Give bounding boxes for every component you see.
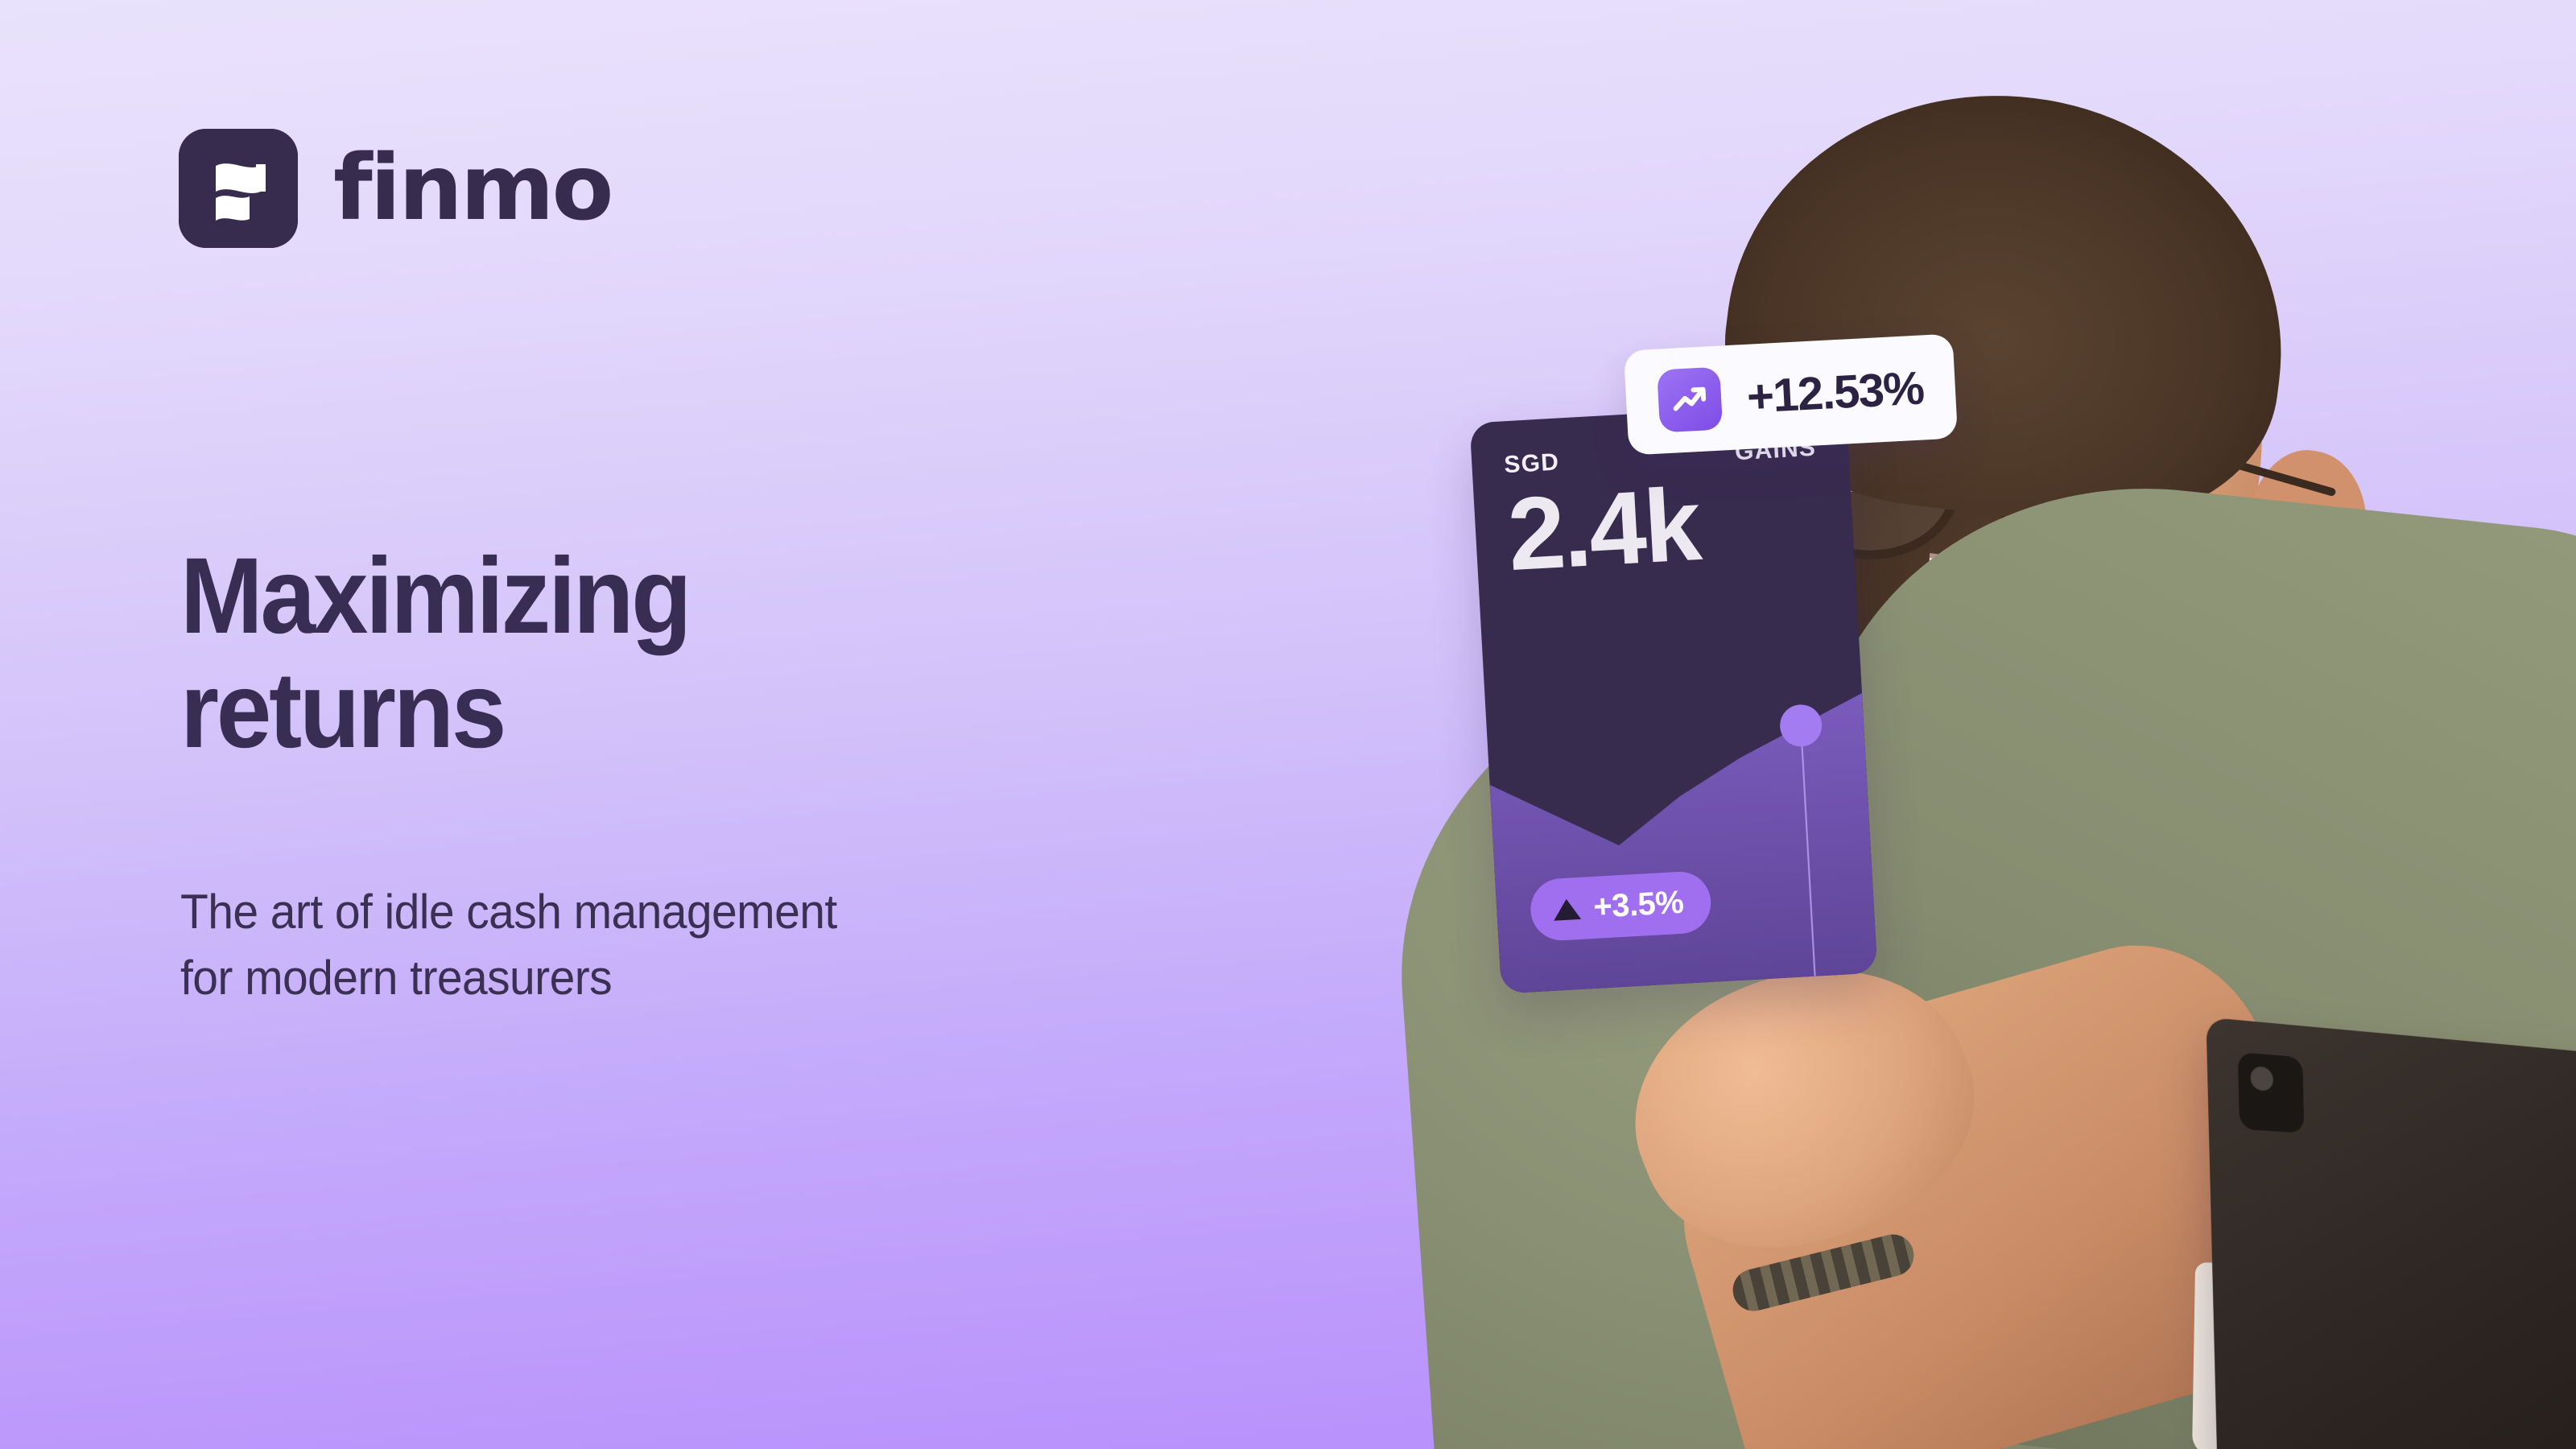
finmo-flag-icon — [179, 129, 298, 248]
status-badge: +3.5% — [1529, 870, 1712, 942]
subhead-line-2: for modern treasurers — [180, 945, 1083, 1011]
stat-card[interactable]: SGD GAINS 2.4k +3.5% — [1470, 402, 1878, 993]
headline-line-1: Maximizing — [180, 539, 1032, 654]
hero-banner: finmo Maximizing returns The art of idle… — [0, 0, 2576, 1449]
subhead-line-1: The art of idle cash management — [180, 879, 1083, 945]
triangle-up-icon — [1553, 898, 1581, 920]
trend-up-icon — [1657, 367, 1723, 433]
stat-value: 2.4k — [1505, 464, 1855, 587]
badge-value: +3.5% — [1592, 885, 1684, 926]
headline-line-2: returns — [180, 654, 1032, 768]
gains-chip[interactable]: +12.53% — [1624, 333, 1959, 455]
page-subtitle: The art of idle cash management for mode… — [180, 879, 1083, 1010]
brand-wordmark: finmo — [333, 143, 612, 233]
camera-icon — [2238, 1052, 2305, 1133]
gains-value: +12.53% — [1745, 361, 1925, 423]
page-title: Maximizing returns — [180, 539, 1032, 768]
tablet-device — [2206, 1017, 2576, 1449]
brand-logo[interactable]: finmo — [179, 129, 612, 248]
gains-marker-dot — [1482, 619, 1878, 994]
